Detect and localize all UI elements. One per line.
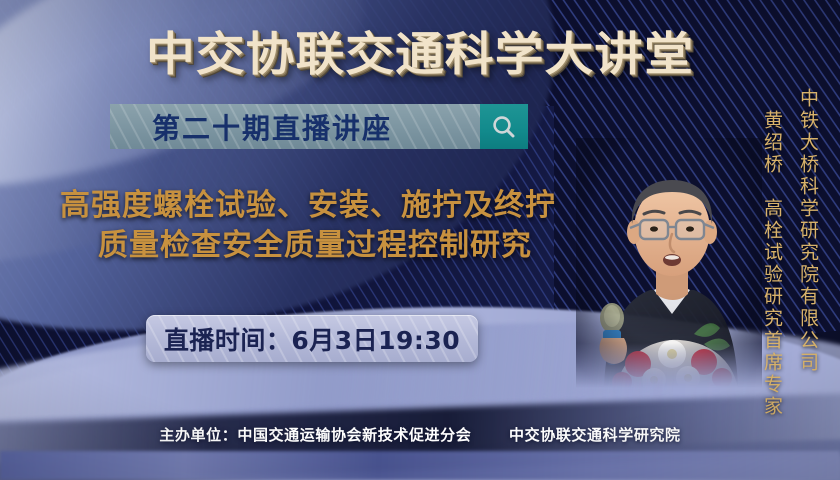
lecture-title-line-1: 高强度螺栓试验、安装、施拧及终拧 (8, 186, 608, 226)
organizer-primary: 主办单位：中国交通运输协会新技术促进分会 (159, 426, 471, 444)
session-banner: 第二十期直播讲座 (110, 104, 528, 149)
background-bottom-sheen (0, 451, 840, 480)
session-banner-plate: 第二十期直播讲座 (110, 104, 480, 149)
page-title: 中交协联交通科学大讲堂 (0, 18, 840, 84)
broadcast-time-text: 直播时间：6月3日19:30 (164, 321, 460, 357)
search-icon (491, 114, 517, 140)
lecture-title-line-2: 质量检查安全质量过程控制研究 (8, 226, 608, 266)
event-poster: 中铁大桥科学研究院有限公司 黄绍桥 高栓试验研究首席专家 中交协联交通科学大讲堂… (0, 0, 840, 480)
search-button[interactable] (480, 104, 528, 149)
lecture-title: 高强度螺栓试验、安装、施拧及终拧 质量检查安全质量过程控制研究 (8, 186, 608, 266)
organizer-secondary: 中交协联交通科学研究院 (509, 426, 681, 444)
speaker-organization: 中铁大桥科学研究院有限公司 (795, 88, 822, 374)
organizer-footer: 主办单位：中国交通运输协会新技术促进分会 中交协联交通科学研究院 (0, 424, 840, 445)
session-label: 第二十期直播讲座 (152, 107, 392, 147)
broadcast-time-badge: 直播时间：6月3日19:30 (146, 315, 478, 362)
speaker-name-role: 黄绍桥 高栓试验研究首席专家 (759, 110, 786, 418)
